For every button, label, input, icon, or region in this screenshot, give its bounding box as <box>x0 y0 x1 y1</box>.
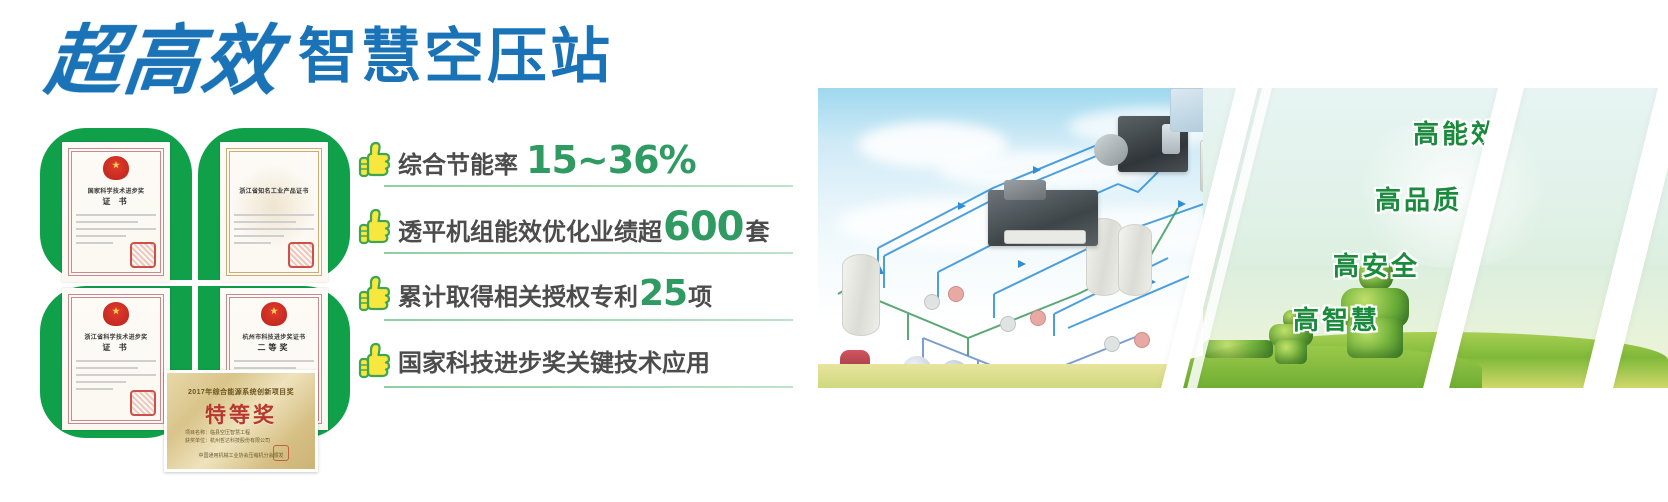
green-label-high-intelligence: 高智慧 <box>1293 300 1380 337</box>
thumbs-up-icon <box>358 274 392 314</box>
cert-seal-icon <box>130 242 156 268</box>
feature-label: 国家科技进步奖关键技术应用 <box>398 343 710 378</box>
headline-strong: 超高效 <box>41 19 284 105</box>
feature-number: 15~36% <box>526 138 696 182</box>
plaque-meta-line-2: 获奖单位：杭州哲达科技股份有限公司 <box>185 437 270 445</box>
illustration-panel: 高能效 高品质 高安全 高智慧 <box>818 88 1668 388</box>
valve-node <box>1000 316 1016 332</box>
feature-underline <box>384 252 793 254</box>
plaque-award-grade: 特等奖 <box>167 399 315 429</box>
certificate-montage: 国家科学技术进步奖 证 书 浙江省知名工业产品证书 <box>40 128 350 438</box>
left-column: 超高效 智慧空压站 国家科学技术进步奖 证 书 <box>0 0 800 502</box>
cert-title: 国家科学技术进步奖 <box>62 186 170 195</box>
feature-list: 综合节能率 15~36% <box>358 126 788 394</box>
feature-row: 国家科技进步奖关键技术应用 <box>358 327 788 394</box>
national-emblem-icon <box>261 302 287 326</box>
compressor-base <box>1004 230 1086 244</box>
feature-number: 25 <box>639 273 687 314</box>
feature-label: 累计取得相关授权专利 <box>398 277 638 312</box>
sensor-node <box>1134 332 1150 348</box>
cert-subtitle: 证 书 <box>62 342 170 353</box>
cert-subtitle: 证 书 <box>62 196 170 207</box>
compressor-motor <box>1004 180 1046 200</box>
feature-row: 累计取得相关授权专利 25 项 <box>358 260 788 327</box>
plaque-title: 2017年综合能源系统创新项目奖 <box>167 387 315 397</box>
headline-rest: 智慧空压站 <box>298 14 613 105</box>
award-plaque[interactable]: 2017年综合能源系统创新项目奖 特等奖 项目名称：临县空压智慧工程 获奖单位：… <box>164 370 318 472</box>
feature-underline <box>384 185 793 187</box>
plaque-issuer: 中国通用机械工业协会压缩机分会颁发 <box>167 452 315 459</box>
certificate-image-provincial-product[interactable]: 浙江省知名工业产品证书 <box>220 142 328 282</box>
feature-row: 综合节能率 15~36% <box>358 126 788 193</box>
thumbs-up-icon <box>358 341 392 381</box>
certificate-image-zhejiang-science[interactable]: 浙江省科学技术进步奖 证 书 <box>62 288 170 430</box>
national-emblem-icon <box>103 156 129 180</box>
feature-suffix: 项 <box>688 277 712 312</box>
storage-tank <box>1118 224 1152 296</box>
feature-text: 透平机组能效优化业绩超 600 套 <box>398 204 770 250</box>
feature-suffix: 套 <box>746 212 770 247</box>
national-emblem-icon <box>103 302 129 326</box>
hedge-row <box>1203 340 1273 358</box>
green-label-high-safety: 高安全 <box>1333 246 1420 283</box>
sensor-node <box>948 286 964 302</box>
cert-subtitle: 二等奖 <box>220 342 328 353</box>
feature-label: 综合节能率 <box>398 145 518 180</box>
certificate-image-national-science[interactable]: 国家科学技术进步奖 证 书 <box>62 142 170 282</box>
feature-text: 累计取得相关授权专利 25 项 <box>398 273 712 314</box>
cert-title: 浙江省科学技术进步奖 <box>62 332 170 341</box>
promo-banner: 超高效 智慧空压站 国家科学技术进步奖 证 书 <box>0 0 1668 502</box>
green-label-high-quality: 高品质 <box>1375 180 1462 217</box>
thumbs-up-icon <box>358 140 392 180</box>
sensor-node <box>1030 310 1046 326</box>
thumbs-up-icon <box>358 207 392 247</box>
cert-seal-icon <box>288 242 314 268</box>
feature-underline <box>384 319 793 321</box>
feature-underline <box>384 386 793 388</box>
storage-tank <box>842 254 880 336</box>
plaque-meta-line-1: 项目名称：临县空压智慧工程 <box>185 429 270 437</box>
cert-title: 杭州市科技进步奖证书 <box>220 332 328 341</box>
feature-text: 国家科技进步奖关键技术应用 <box>398 343 710 378</box>
plaque-seal-icon <box>273 445 289 461</box>
page-title: 超高效 智慧空压站 <box>46 14 613 105</box>
cert-seal-icon <box>130 390 156 416</box>
blower-housing <box>1094 134 1128 166</box>
award-plaque-face: 2017年综合能源系统创新项目奖 特等奖 项目名称：临县空压智慧工程 获奖单位：… <box>167 373 315 469</box>
feature-number: 600 <box>663 204 744 250</box>
feature-text: 综合节能率 15~36% <box>398 138 696 182</box>
plaque-meta: 项目名称：临县空压智慧工程 获奖单位：杭州哲达科技股份有限公司 <box>185 429 270 445</box>
valve-node <box>924 294 940 310</box>
valve-node <box>1104 336 1120 352</box>
cert-title: 浙江省知名工业产品证书 <box>220 186 328 195</box>
topiary-body <box>1275 340 1307 364</box>
feature-label: 透平机组能效优化业绩超 <box>398 212 662 247</box>
feature-row: 透平机组能效优化业绩超 600 套 <box>358 193 788 260</box>
